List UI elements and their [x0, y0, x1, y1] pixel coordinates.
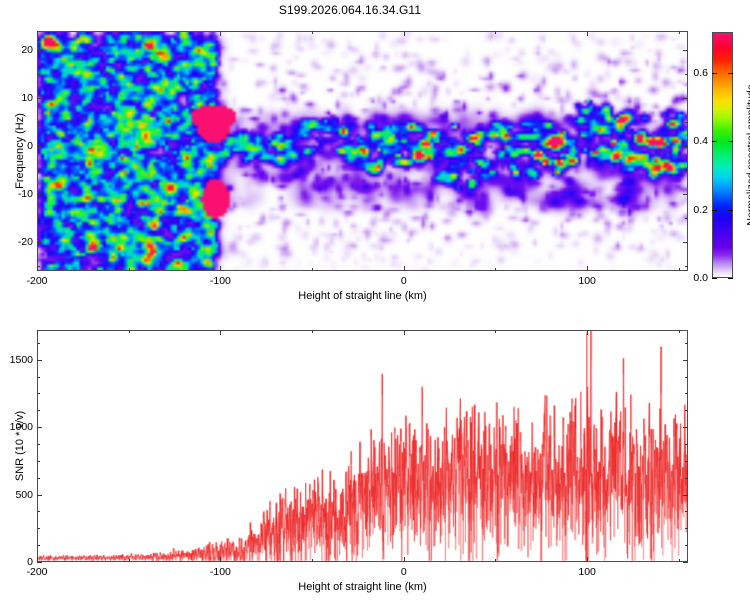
- axis-tick: [37, 360, 42, 361]
- spectrogram-image: [38, 32, 687, 270]
- axis-tick: [685, 122, 688, 123]
- snr-trace: [38, 331, 687, 561]
- axis-tick: [683, 50, 688, 51]
- axis-tick: [728, 278, 733, 279]
- axis-tick: [685, 170, 688, 171]
- colorbar-tick-label: 0.2: [678, 204, 708, 216]
- axis-tick: [129, 330, 130, 333]
- axis-tick: [495, 330, 496, 333]
- axis-tick-label: 0: [401, 275, 407, 287]
- axis-tick: [220, 330, 221, 335]
- axis-tick: [685, 545, 688, 546]
- axis-tick: [683, 360, 688, 361]
- axis-tick: [683, 242, 688, 243]
- axis-tick: [37, 146, 42, 147]
- axis-tick: [728, 210, 733, 211]
- axis-tick: [37, 545, 40, 546]
- axis-tick-label: 1500: [5, 354, 33, 366]
- axis-tick: [685, 478, 688, 479]
- axis-tick: [685, 511, 688, 512]
- axis-tick-label: 100: [578, 275, 596, 287]
- axis-tick: [37, 266, 40, 267]
- axis-tick: [495, 31, 496, 34]
- axis-tick: [220, 266, 221, 271]
- axis-tick: [495, 559, 496, 562]
- axis-tick-label: -100: [210, 566, 231, 578]
- axis-tick: [685, 444, 688, 445]
- axis-tick: [312, 268, 313, 271]
- axis-tick: [685, 377, 688, 378]
- axis-tick: [37, 50, 42, 51]
- axis-tick: [587, 31, 588, 36]
- colorbar-tick-label: 0.4: [678, 135, 708, 147]
- axis-tick: [37, 170, 40, 171]
- axis-tick: [37, 343, 40, 344]
- axis-tick: [712, 73, 717, 74]
- axis-tick: [683, 427, 688, 428]
- axis-tick-label: -200: [26, 275, 47, 287]
- axis-tick: [679, 268, 680, 271]
- axis-tick: [129, 559, 130, 562]
- axis-tick-label: -10: [7, 188, 33, 200]
- axis-tick: [37, 478, 40, 479]
- axis-tick-label: 100: [578, 566, 596, 578]
- axis-tick: [37, 74, 40, 75]
- axis-tick: [683, 495, 688, 496]
- colorbar-tick-label: 0.0: [678, 272, 708, 284]
- axis-tick: [37, 122, 40, 123]
- axis-tick: [728, 73, 733, 74]
- axis-tick: [37, 562, 42, 563]
- axis-tick: [37, 393, 40, 394]
- axis-tick: [37, 427, 42, 428]
- figure-root: S199.2026.064.16.34.G11 -200-1000100-20-…: [0, 0, 750, 600]
- axis-tick: [712, 278, 717, 279]
- axis-tick-label: 0: [401, 566, 407, 578]
- axis-tick: [683, 98, 688, 99]
- axis-tick: [220, 557, 221, 562]
- axis-tick: [129, 31, 130, 34]
- axis-tick: [129, 268, 130, 271]
- axis-tick: [37, 528, 40, 529]
- axis-tick: [712, 141, 717, 142]
- axis-tick: [312, 31, 313, 34]
- axis-tick: [37, 194, 42, 195]
- axis-tick: [404, 557, 405, 562]
- axis-tick: [685, 343, 688, 344]
- axis-tick: [37, 98, 42, 99]
- axis-tick: [685, 528, 688, 529]
- colorbar-tick-label: 0.6: [678, 67, 708, 79]
- spectrogram-x-axis-title: Height of straight line (km): [298, 290, 426, 302]
- axis-tick: [679, 31, 680, 34]
- spectrogram-panel: [37, 31, 688, 271]
- axis-tick: [685, 393, 688, 394]
- snr-y-axis-title: SNR (10 * v/v): [14, 411, 26, 481]
- axis-tick: [685, 410, 688, 411]
- axis-tick: [404, 330, 405, 335]
- axis-tick: [37, 330, 38, 335]
- axis-tick: [37, 377, 40, 378]
- axis-tick-label: -100: [210, 275, 231, 287]
- axis-tick: [683, 194, 688, 195]
- axis-tick: [712, 210, 717, 211]
- axis-tick: [587, 266, 588, 271]
- axis-tick: [587, 557, 588, 562]
- axis-tick: [37, 461, 40, 462]
- axis-tick: [312, 559, 313, 562]
- axis-tick: [37, 31, 38, 36]
- colorbar: [712, 32, 733, 278]
- axis-tick: [587, 330, 588, 335]
- axis-tick: [404, 31, 405, 36]
- axis-tick: [37, 511, 40, 512]
- axis-tick: [685, 266, 688, 267]
- axis-tick: [220, 31, 221, 36]
- axis-tick: [495, 268, 496, 271]
- axis-tick: [685, 461, 688, 462]
- axis-tick: [728, 141, 733, 142]
- snr-panel: [37, 330, 688, 562]
- spectrogram-y-axis-title: Frequency (Hz): [14, 113, 26, 189]
- axis-tick: [312, 330, 313, 333]
- axis-tick-label: 500: [5, 489, 33, 501]
- axis-tick: [37, 218, 40, 219]
- axis-tick: [37, 495, 42, 496]
- axis-tick-label: 0: [5, 556, 33, 568]
- colorbar-title: Normalized spectral amplitude: [745, 84, 750, 225]
- axis-tick: [37, 444, 40, 445]
- axis-tick: [37, 410, 40, 411]
- axis-tick: [37, 242, 42, 243]
- axis-tick: [404, 266, 405, 271]
- axis-tick: [683, 562, 688, 563]
- axis-tick-label: 10: [7, 92, 33, 104]
- axis-tick: [679, 330, 680, 333]
- axis-tick-label: -20: [7, 236, 33, 248]
- axis-tick: [685, 218, 688, 219]
- axis-tick: [679, 559, 680, 562]
- snr-x-axis-title: Height of straight line (km): [298, 581, 426, 593]
- page-title: S199.2026.064.16.34.G11: [0, 3, 700, 17]
- axis-tick-label: 20: [7, 44, 33, 56]
